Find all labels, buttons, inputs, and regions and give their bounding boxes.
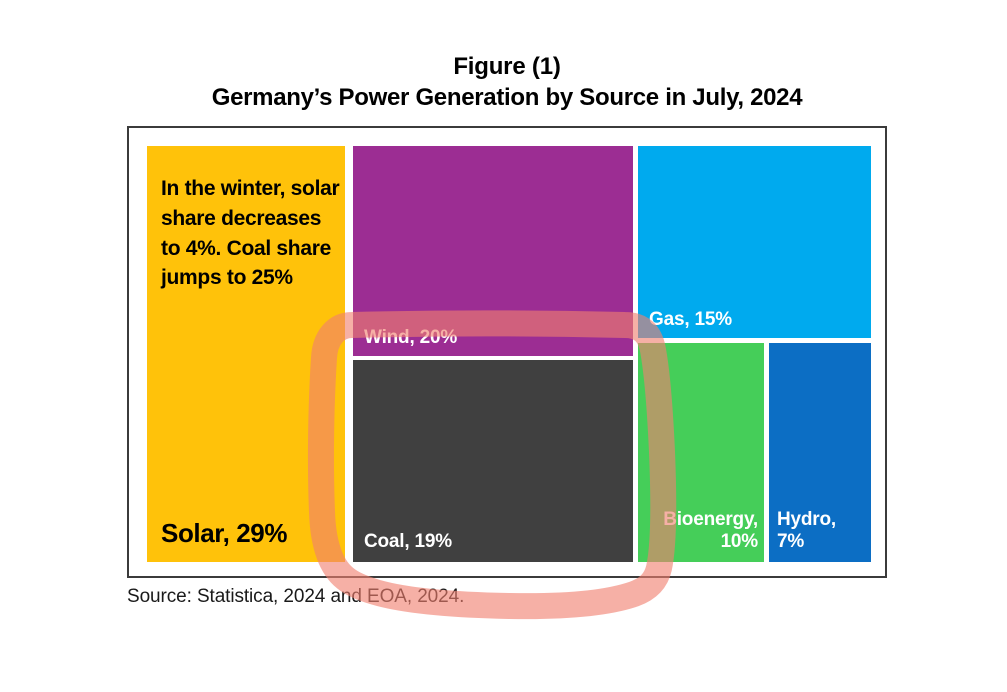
title-block: Figure (1) Germany’s Power Generation by…	[127, 52, 887, 114]
treemap-label-wind: Wind, 20%	[364, 327, 457, 348]
treemap-cell-bioenergy[interactable]: Bioenergy, 10%	[638, 343, 764, 562]
treemap-cell-gas[interactable]: Gas, 15%	[638, 146, 871, 338]
chart-frame: In the winter, solar share decreases to …	[127, 126, 887, 578]
treemap-chart: In the winter, solar share decreases to …	[129, 128, 889, 580]
treemap-label-solar: Solar, 29%	[161, 519, 287, 548]
figure-container: Figure (1) Germany’s Power Generation by…	[0, 0, 1007, 692]
treemap-label-coal: Coal, 19%	[364, 531, 452, 552]
annotation-note-text: In the winter, solar share decreases to …	[161, 174, 341, 293]
figure-number: Figure (1)	[127, 52, 887, 82]
source-note: Source: Statistica, 2024 and EOA, 2024.	[127, 586, 464, 608]
treemap-label-hydro: Hydro, 7%	[777, 509, 836, 552]
page-title: Germany’s Power Generation by Source in …	[127, 82, 887, 114]
treemap-label-gas: Gas, 15%	[649, 309, 732, 330]
treemap-cell-hydro[interactable]: Hydro, 7%	[769, 343, 871, 562]
treemap-cell-wind[interactable]: Wind, 20%	[353, 146, 633, 356]
treemap-label-bioenergy: Bioenergy, 10%	[644, 509, 758, 552]
treemap-cell-solar[interactable]: In the winter, solar share decreases to …	[147, 146, 345, 562]
treemap-cell-coal[interactable]: Coal, 19%	[353, 360, 633, 562]
